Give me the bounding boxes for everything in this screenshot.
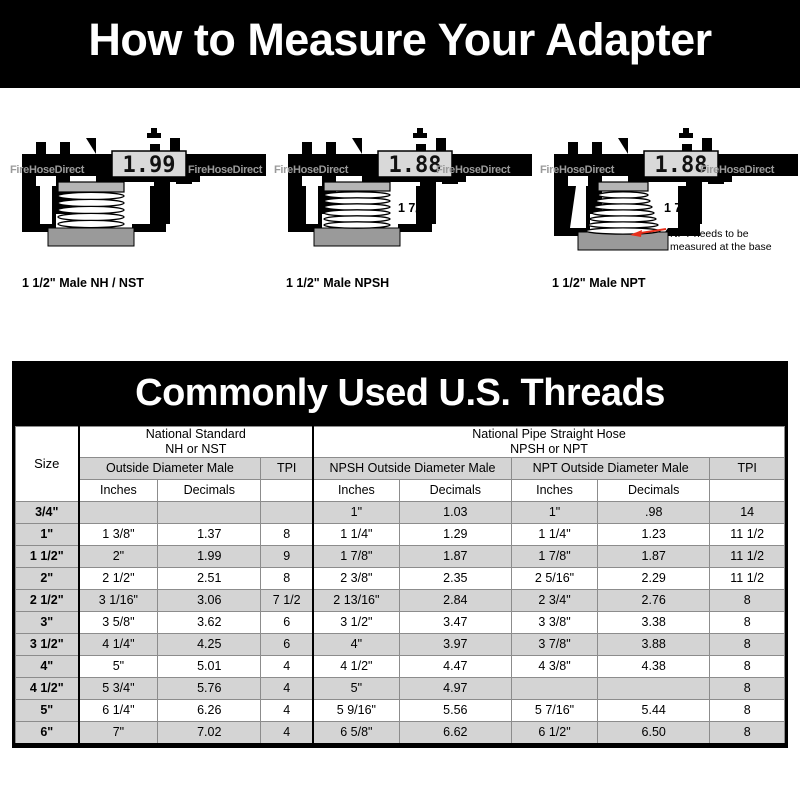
table-row: 6"7"7.0246 5/8"6.626 1/2"6.508 bbox=[16, 721, 785, 744]
header-npsh-inches: Inches bbox=[313, 479, 399, 501]
table-row: 3"3 5/8"3.6263 1/2"3.473 3/8"3.388 bbox=[16, 611, 785, 633]
measurement-label-npt: 1 7/8" bbox=[664, 201, 698, 215]
cell-size: 1 1/2" bbox=[16, 545, 79, 567]
cell-npsh-inches: 1 7/8" bbox=[313, 545, 399, 567]
cell-size: 2" bbox=[16, 567, 79, 589]
cell-npsh-inches: 6 5/8" bbox=[313, 721, 399, 744]
cell-npt-inches: 3 3/8" bbox=[511, 611, 597, 633]
cell-nh-inches: 2 1/2" bbox=[79, 567, 158, 589]
cell-npsh-inches: 5 9/16" bbox=[313, 699, 399, 721]
threads-table-body: 3/4"1"1.031".98141"1 3/8"1.3781 1/4"1.29… bbox=[16, 501, 785, 744]
cell-npt-inches: 5 7/16" bbox=[511, 699, 597, 721]
cell-npt-decimals: 1.87 bbox=[598, 545, 710, 567]
cell-nh-inches: 2" bbox=[79, 545, 158, 567]
cell-npt-tpi: 11 1/2 bbox=[710, 523, 785, 545]
header-npt-tpi: TPI bbox=[710, 457, 785, 479]
cell-size: 3" bbox=[16, 611, 79, 633]
cell-nh-tpi bbox=[261, 501, 313, 523]
cell-npsh-decimals: 4.97 bbox=[399, 677, 511, 699]
cell-nh-tpi: 8 bbox=[261, 567, 313, 589]
cell-nh-decimals: 5.76 bbox=[158, 677, 261, 699]
cell-npt-tpi: 8 bbox=[710, 589, 785, 611]
table-row: 3/4"1"1.031".9814 bbox=[16, 501, 785, 523]
cell-nh-decimals: 5.01 bbox=[158, 655, 261, 677]
diagram-band: 1.99 FireHoseDirect FireHoseDirect 2" bbox=[0, 88, 800, 356]
cell-nh-decimals bbox=[158, 501, 261, 523]
threads-table-block: Commonly Used U.S. Threads Size National… bbox=[12, 361, 788, 748]
header-nh-od-male: Outside Diameter Male bbox=[79, 457, 261, 479]
header-npt-decimals: Decimals bbox=[598, 479, 710, 501]
cell-npt-inches: 2 3/4" bbox=[511, 589, 597, 611]
cell-nh-tpi: 4 bbox=[261, 677, 313, 699]
diagram-npt: 1.88 bbox=[532, 88, 798, 356]
header-npt-inches: Inches bbox=[511, 479, 597, 501]
cell-npsh-decimals: 1.29 bbox=[399, 523, 511, 545]
header-npsh-decimals: Decimals bbox=[399, 479, 511, 501]
cell-npt-decimals: 2.29 bbox=[598, 567, 710, 589]
npt-callout-note: NPT needs to be measured at the base bbox=[670, 228, 772, 254]
cell-nh-decimals: 2.51 bbox=[158, 567, 261, 589]
header-group-nh: National Standard NH or NST bbox=[79, 427, 314, 458]
cell-npt-inches: 1 1/4" bbox=[511, 523, 597, 545]
cell-size: 4 1/2" bbox=[16, 677, 79, 699]
cell-nh-inches: 6 1/4" bbox=[79, 699, 158, 721]
cell-npt-inches: 2 5/16" bbox=[511, 567, 597, 589]
caliper-display-value-nh: 1.99 bbox=[123, 153, 176, 178]
cell-npt-decimals: 5.44 bbox=[598, 699, 710, 721]
table-row: 5"6 1/4"6.2645 9/16"5.565 7/16"5.448 bbox=[16, 699, 785, 721]
cell-npt-decimals bbox=[598, 677, 710, 699]
cell-nh-tpi: 6 bbox=[261, 611, 313, 633]
cell-npt-tpi: 11 1/2 bbox=[710, 567, 785, 589]
cell-nh-decimals: 1.99 bbox=[158, 545, 261, 567]
cell-npt-tpi: 8 bbox=[710, 699, 785, 721]
cell-npt-decimals: 4.38 bbox=[598, 655, 710, 677]
cell-npsh-inches: 4 1/2" bbox=[313, 655, 399, 677]
npt-callout-line1: NPT needs to be bbox=[670, 228, 772, 241]
cell-nh-decimals: 1.37 bbox=[158, 523, 261, 545]
cell-npsh-decimals: 3.47 bbox=[399, 611, 511, 633]
table-row: 1"1 3/8"1.3781 1/4"1.291 1/4"1.2311 1/2 bbox=[16, 523, 785, 545]
cell-npsh-inches: 1 1/4" bbox=[313, 523, 399, 545]
cell-size: 3 1/2" bbox=[16, 633, 79, 655]
header-nh-tpi: TPI bbox=[261, 457, 313, 479]
cell-size: 6" bbox=[16, 721, 79, 744]
header-npt-od-male: NPT Outside Diameter Male bbox=[511, 457, 709, 479]
cell-nh-tpi: 4 bbox=[261, 721, 313, 744]
cell-npt-tpi: 8 bbox=[710, 633, 785, 655]
diagram-caption-npt: 1 1/2" Male NPT bbox=[552, 276, 645, 290]
cell-npsh-decimals: 2.35 bbox=[399, 567, 511, 589]
measurement-label-nh: 2" bbox=[156, 201, 169, 215]
cell-nh-decimals: 3.06 bbox=[158, 589, 261, 611]
caliper-display-value-npsh: 1.88 bbox=[389, 153, 442, 178]
header-npt-tpi-blank bbox=[710, 479, 785, 501]
npt-callout-line2: measured at the base bbox=[670, 241, 772, 254]
header-group-nh-line1: National Standard bbox=[80, 427, 313, 442]
cell-npt-decimals: 3.88 bbox=[598, 633, 710, 655]
header-nh-decimals: Decimals bbox=[158, 479, 261, 501]
cell-npt-tpi: 8 bbox=[710, 655, 785, 677]
cell-npsh-inches: 5" bbox=[313, 677, 399, 699]
cell-nh-tpi: 4 bbox=[261, 699, 313, 721]
cell-size: 3/4" bbox=[16, 501, 79, 523]
cell-npt-inches: 1 7/8" bbox=[511, 545, 597, 567]
cell-nh-inches: 4 1/4" bbox=[79, 633, 158, 655]
cell-npsh-inches: 2 3/8" bbox=[313, 567, 399, 589]
cell-nh-tpi: 6 bbox=[261, 633, 313, 655]
header-group-npsh: National Pipe Straight Hose NPSH or NPT bbox=[313, 427, 784, 458]
cell-nh-inches: 3 5/8" bbox=[79, 611, 158, 633]
cell-npt-tpi: 8 bbox=[710, 721, 785, 744]
diagram-caption-npsh: 1 1/2" Male NPSH bbox=[286, 276, 389, 290]
header-group-npsh-line1: National Pipe Straight Hose bbox=[314, 427, 784, 442]
cell-nh-decimals: 4.25 bbox=[158, 633, 261, 655]
table-row: 2"2 1/2"2.5182 3/8"2.352 5/16"2.2911 1/2 bbox=[16, 567, 785, 589]
table-row: 4"5"5.0144 1/2"4.474 3/8"4.388 bbox=[16, 655, 785, 677]
header-group-npsh-line2: NPSH or NPT bbox=[314, 442, 784, 457]
cell-npt-inches: 3 7/8" bbox=[511, 633, 597, 655]
cell-size: 1" bbox=[16, 523, 79, 545]
cell-nh-inches bbox=[79, 501, 158, 523]
cell-npt-decimals: .98 bbox=[598, 501, 710, 523]
cell-nh-decimals: 6.26 bbox=[158, 699, 261, 721]
cell-nh-tpi: 7 1/2 bbox=[261, 589, 313, 611]
cell-npt-tpi: 14 bbox=[710, 501, 785, 523]
cell-npt-inches: 4 3/8" bbox=[511, 655, 597, 677]
header-group-nh-line2: NH or NST bbox=[80, 442, 313, 457]
top-banner: How to Measure Your Adapter bbox=[0, 0, 800, 88]
cell-npt-decimals: 1.23 bbox=[598, 523, 710, 545]
cell-npsh-inches: 4" bbox=[313, 633, 399, 655]
cell-npsh-decimals: 4.47 bbox=[399, 655, 511, 677]
cell-npsh-decimals: 1.87 bbox=[399, 545, 511, 567]
cell-nh-decimals: 7.02 bbox=[158, 721, 261, 744]
cell-nh-inches: 1 3/8" bbox=[79, 523, 158, 545]
cell-nh-tpi: 8 bbox=[261, 523, 313, 545]
cell-size: 5" bbox=[16, 699, 79, 721]
table-title: Commonly Used U.S. Threads bbox=[15, 372, 785, 415]
infographic-page: How to Measure Your Adapter 1.99 bbox=[0, 0, 800, 800]
cell-npsh-inches: 3 1/2" bbox=[313, 611, 399, 633]
table-row: 3 1/2"4 1/4"4.2564"3.973 7/8"3.888 bbox=[16, 633, 785, 655]
cell-npsh-inches: 2 13/16" bbox=[313, 589, 399, 611]
cell-nh-inches: 5" bbox=[79, 655, 158, 677]
cell-npt-inches bbox=[511, 677, 597, 699]
caliper-illustration-nh: 1.99 bbox=[0, 124, 266, 284]
cell-npt-tpi: 8 bbox=[710, 677, 785, 699]
cell-nh-tpi: 4 bbox=[261, 655, 313, 677]
cell-npsh-decimals: 3.97 bbox=[399, 633, 511, 655]
cell-npsh-inches: 1" bbox=[313, 501, 399, 523]
header-nh-inches: Inches bbox=[79, 479, 158, 501]
measurement-label-npsh: 1 7/8" bbox=[398, 201, 432, 215]
caliper-display-value-npt: 1.88 bbox=[655, 153, 708, 178]
cell-size: 4" bbox=[16, 655, 79, 677]
table-row: 2 1/2"3 1/16"3.067 1/22 13/16"2.842 3/4"… bbox=[16, 589, 785, 611]
table-banner: Commonly Used U.S. Threads bbox=[15, 364, 785, 426]
cell-npsh-decimals: 5.56 bbox=[399, 699, 511, 721]
cell-npt-inches: 6 1/2" bbox=[511, 721, 597, 744]
cell-npsh-decimals: 1.03 bbox=[399, 501, 511, 523]
header-npsh-od-male: NPSH Outside Diameter Male bbox=[313, 457, 511, 479]
header-size: Size bbox=[16, 427, 79, 502]
cell-nh-inches: 3 1/16" bbox=[79, 589, 158, 611]
cell-npt-decimals: 3.38 bbox=[598, 611, 710, 633]
table-row: 1 1/2"2"1.9991 7/8"1.871 7/8"1.8711 1/2 bbox=[16, 545, 785, 567]
diagram-nh-nst: 1.99 FireHoseDirect FireHoseDirect 2" bbox=[0, 88, 266, 356]
cell-nh-decimals: 3.62 bbox=[158, 611, 261, 633]
cell-npsh-decimals: 2.84 bbox=[399, 589, 511, 611]
cell-nh-inches: 5 3/4" bbox=[79, 677, 158, 699]
cell-size: 2 1/2" bbox=[16, 589, 79, 611]
threads-table: Size National Standard NH or NST Nationa… bbox=[15, 426, 785, 745]
diagram-npsh: 1.88 FireHoseDirect FireHoseDirect 1 7/8… bbox=[266, 88, 532, 356]
cell-npt-decimals: 6.50 bbox=[598, 721, 710, 744]
header-nh-tpi-blank bbox=[261, 479, 313, 501]
page-title: How to Measure Your Adapter bbox=[0, 14, 800, 66]
cell-npt-tpi: 8 bbox=[710, 611, 785, 633]
diagram-caption-nh: 1 1/2" Male NH / NST bbox=[22, 276, 144, 290]
cell-nh-tpi: 9 bbox=[261, 545, 313, 567]
cell-npt-decimals: 2.76 bbox=[598, 589, 710, 611]
cell-npt-tpi: 11 1/2 bbox=[710, 545, 785, 567]
cell-npt-inches: 1" bbox=[511, 501, 597, 523]
table-row: 4 1/2"5 3/4"5.7645"4.978 bbox=[16, 677, 785, 699]
cell-nh-inches: 7" bbox=[79, 721, 158, 744]
cell-npsh-decimals: 6.62 bbox=[399, 721, 511, 744]
